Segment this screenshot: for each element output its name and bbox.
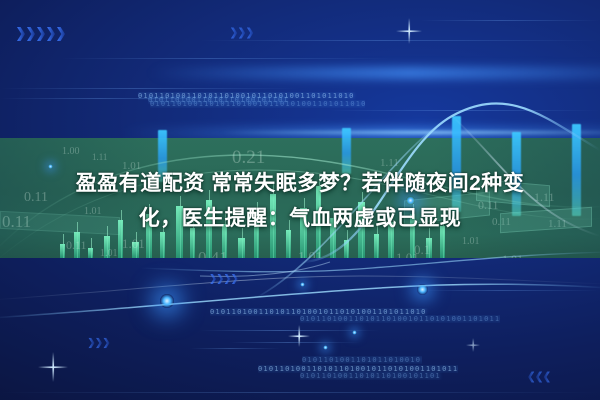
price-label: 0.1 xyxy=(414,242,430,258)
price-label: 1.11 xyxy=(92,152,107,162)
sparkle-star-icon xyxy=(288,325,310,347)
candlestick-bar xyxy=(238,238,245,258)
price-label: 0.11 xyxy=(66,238,87,253)
grid-line xyxy=(420,20,600,21)
grid-line xyxy=(330,110,600,111)
binary-strip: 01011010011010110100101101 xyxy=(148,96,298,104)
candlestick-bar xyxy=(344,240,349,258)
grid-line xyxy=(190,348,280,349)
price-label: 1.01 xyxy=(100,248,118,258)
chevron-right-icon xyxy=(89,338,110,349)
light-beam-thin xyxy=(220,131,600,134)
sparkle-star-icon xyxy=(396,18,422,44)
candlestick-bar xyxy=(88,248,93,258)
banner-image: 0101101001101011010010110101001101011010… xyxy=(0,0,600,400)
glow-node xyxy=(323,345,328,350)
light-beam-upper xyxy=(150,68,600,78)
headline-line-2: 化，医生提醒：气血两虚或已显现 xyxy=(0,201,600,236)
grid-line xyxy=(420,290,600,291)
price-label: 0.11 xyxy=(226,138,259,144)
candlestick-bar xyxy=(60,244,65,258)
headline-line-1: 盈盈有道配资 常常失眠多梦？若伴随夜间2种变 xyxy=(0,166,600,201)
chevron-right-icon xyxy=(210,274,237,284)
price-label: 1.01 xyxy=(122,236,145,252)
price-label: 1.01 xyxy=(502,252,523,258)
binary-strip: 0101101001101011010010110101001101011010 xyxy=(300,315,500,323)
price-label: 1.01 xyxy=(298,250,323,258)
sparkle-star-icon xyxy=(466,338,480,352)
chevron-right-icon xyxy=(231,27,253,38)
grid-line xyxy=(60,58,390,59)
grid-line xyxy=(0,392,600,393)
glow-node xyxy=(300,282,305,287)
price-label: 0.41 xyxy=(198,248,228,258)
chevron-right-icon xyxy=(17,27,65,41)
sparkle-star-icon xyxy=(38,352,68,382)
grid-line xyxy=(0,88,300,89)
price-label: 1.00 xyxy=(62,146,80,157)
glow-node xyxy=(160,294,174,308)
binary-strip: 01011010011010110100101101 xyxy=(302,356,422,364)
chevron-left-icon xyxy=(528,372,550,383)
binary-strip: 01011010011010110100101101 xyxy=(300,372,460,380)
grid-line xyxy=(200,330,380,331)
candlestick-bar xyxy=(374,234,379,258)
grid-line xyxy=(230,342,360,343)
price-label: 1.01 xyxy=(462,236,480,247)
headline: 盈盈有道配资 常常失眠多梦？若伴随夜间2种变 化，医生提醒：气血两虚或已显现 xyxy=(0,166,600,236)
